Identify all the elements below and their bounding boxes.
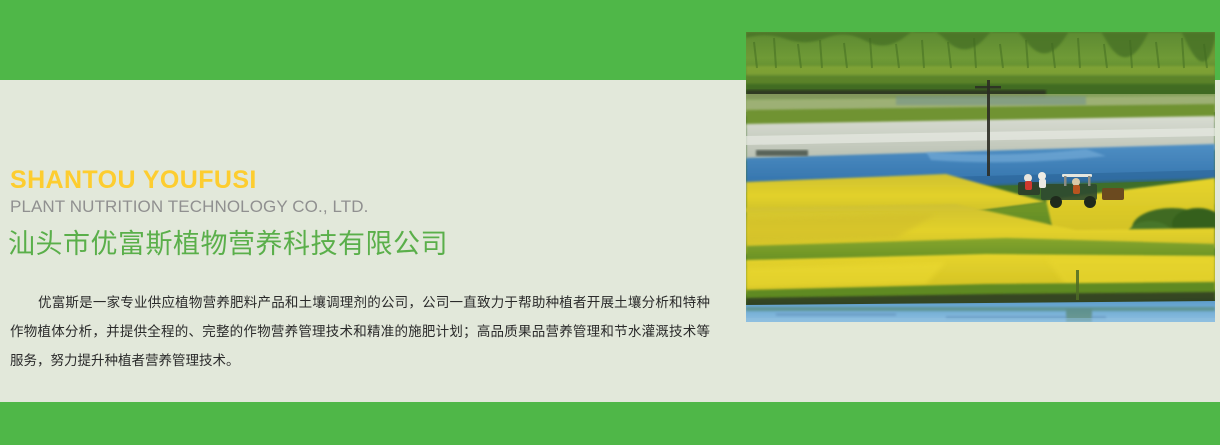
- company-name-english: SHANTOU YOUFUSI: [10, 166, 257, 195]
- paddy-field-photo-graphic: [746, 32, 1215, 322]
- company-intro-paragraph: 优富斯是一家专业供应植物营养肥料产品和土壤调理剂的公司，公司一直致力于帮助种植者…: [10, 288, 710, 375]
- paddy-field-photo: [746, 32, 1215, 322]
- footer-green-bar: [0, 402, 1220, 445]
- company-intro-section: SHANTOU YOUFUSI PLANT NUTRITION TECHNOLO…: [0, 80, 746, 402]
- page-root: SHANTOU YOUFUSI PLANT NUTRITION TECHNOLO…: [0, 0, 1220, 445]
- company-name-chinese: 汕头市优富斯植物营养科技有限公司: [8, 222, 448, 261]
- company-subtitle-english: PLANT NUTRITION TECHNOLOGY CO., LTD.: [10, 197, 368, 217]
